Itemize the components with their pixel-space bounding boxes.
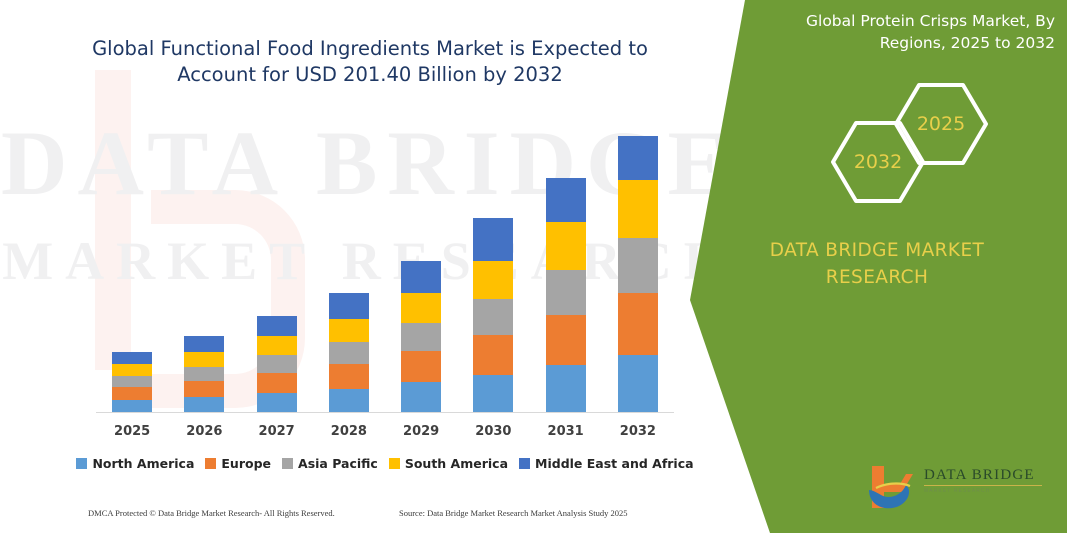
- green-panel-content: Global Protein Crisps Market, By Regions…: [690, 0, 1067, 533]
- legend-swatch: [389, 458, 400, 469]
- bar-column: [602, 110, 674, 412]
- chart-legend: North AmericaEuropeAsia PacificSouth Ame…: [96, 456, 674, 471]
- logo-mark-icon: [866, 462, 918, 512]
- legend-label: Europe: [221, 456, 271, 471]
- legend-item: Europe: [205, 456, 271, 471]
- bar-segment: [546, 270, 586, 315]
- bar-segment: [257, 355, 297, 373]
- legend-swatch: [519, 458, 530, 469]
- stacked-bar: [184, 336, 224, 412]
- legend-item: South America: [389, 456, 508, 471]
- bar-segment: [329, 389, 369, 412]
- bar-segment: [546, 222, 586, 270]
- bar-segment: [257, 336, 297, 355]
- x-axis-label: 2029: [385, 424, 457, 439]
- bar-segment: [401, 382, 441, 412]
- bar-segment: [184, 397, 224, 412]
- bar-segment: [618, 293, 658, 355]
- bar-segment: [473, 335, 513, 375]
- chart-panel: Global Functional Food Ingredients Marke…: [0, 0, 740, 533]
- x-axis-labels: 20252026202720282029203020312032: [96, 424, 674, 439]
- bar-segment: [473, 375, 513, 412]
- bar-segment: [473, 218, 513, 261]
- bar-column: [313, 110, 385, 412]
- stacked-bar: [401, 261, 441, 412]
- bar-segment: [184, 352, 224, 367]
- stacked-bar: [257, 316, 297, 412]
- bar-segment: [184, 381, 224, 397]
- x-axis-label: 2025: [96, 424, 168, 439]
- brand-name: DATA BRIDGE MARKET RESEARCH: [752, 238, 1002, 292]
- bar-segment: [112, 352, 152, 364]
- bar-segment: [473, 261, 513, 299]
- bar-segment: [401, 261, 441, 293]
- bar-segment: [401, 293, 441, 323]
- footer: DMCA Protected © Data Bridge Market Rese…: [0, 508, 700, 526]
- legend-label: South America: [405, 456, 508, 471]
- hexagon-2025-label: 2025: [893, 82, 989, 166]
- footer-source: Source: Data Bridge Market Research Mark…: [399, 508, 628, 518]
- stacked-bar: [618, 136, 658, 412]
- x-axis-label: 2032: [602, 424, 674, 439]
- legend-swatch: [205, 458, 216, 469]
- legend-swatch: [76, 458, 87, 469]
- logo-text: DATA BRIDGE MARKET RESEARCH: [924, 468, 1044, 494]
- bar-segment: [112, 376, 152, 387]
- bar-segment: [546, 315, 586, 365]
- bar-column: [168, 110, 240, 412]
- bar-segment: [329, 364, 369, 389]
- bar-segment: [473, 299, 513, 335]
- stacked-bar-chart: [96, 110, 674, 412]
- x-axis-label: 2028: [313, 424, 385, 439]
- bar-segment: [546, 178, 586, 222]
- bar-segment: [112, 364, 152, 376]
- hexagon-group: 2032 2025: [690, 78, 1067, 208]
- hexagon-2025: 2025: [893, 82, 989, 166]
- bar-segment: [257, 393, 297, 412]
- bar-column: [385, 110, 457, 412]
- bar-segment: [329, 293, 369, 319]
- bar-segment: [184, 367, 224, 381]
- x-axis-line: [96, 412, 674, 413]
- bar-column: [241, 110, 313, 412]
- logo-name: DATA BRIDGE: [924, 468, 1044, 483]
- stacked-bar: [329, 293, 369, 412]
- bar-segment: [257, 373, 297, 393]
- bar-segment: [329, 342, 369, 364]
- bar-segment: [546, 365, 586, 412]
- bar-column: [457, 110, 529, 412]
- company-logo: DATA BRIDGE MARKET RESEARCH: [866, 462, 1041, 514]
- legend-item: North America: [76, 456, 194, 471]
- x-axis-label: 2026: [168, 424, 240, 439]
- bar-segment: [257, 316, 297, 336]
- green-panel-title: Global Protein Crisps Market, By Regions…: [770, 10, 1055, 55]
- stacked-bar: [473, 218, 513, 412]
- x-axis-label: 2027: [241, 424, 313, 439]
- bar-segment: [618, 136, 658, 180]
- bar-column: [96, 110, 168, 412]
- bar-column: [530, 110, 602, 412]
- legend-label: Middle East and Africa: [535, 456, 694, 471]
- bar-segment: [618, 238, 658, 293]
- logo-divider: [924, 485, 1042, 486]
- chart-title: Global Functional Food Ingredients Marke…: [70, 36, 670, 89]
- legend-label: Asia Pacific: [298, 456, 378, 471]
- stacked-bar: [112, 352, 152, 412]
- bar-segment: [112, 400, 152, 412]
- logo-tagline: MARKET RESEARCH: [924, 489, 1044, 494]
- bar-segment: [618, 180, 658, 238]
- bar-segment: [401, 323, 441, 351]
- bar-segment: [184, 336, 224, 352]
- bar-segment: [329, 319, 369, 342]
- legend-item: Middle East and Africa: [519, 456, 694, 471]
- bar-segment: [618, 355, 658, 412]
- infographic-canvas: DATA BRIDGE MARKET RESEARCH Global Funct…: [0, 0, 1067, 533]
- x-axis-label: 2030: [457, 424, 529, 439]
- footer-copyright: DMCA Protected © Data Bridge Market Rese…: [88, 508, 335, 518]
- stacked-bar: [546, 178, 586, 412]
- x-axis-label: 2031: [530, 424, 602, 439]
- bar-segment: [112, 387, 152, 400]
- legend-item: Asia Pacific: [282, 456, 378, 471]
- legend-label: North America: [92, 456, 194, 471]
- bar-segment: [401, 351, 441, 382]
- legend-swatch: [282, 458, 293, 469]
